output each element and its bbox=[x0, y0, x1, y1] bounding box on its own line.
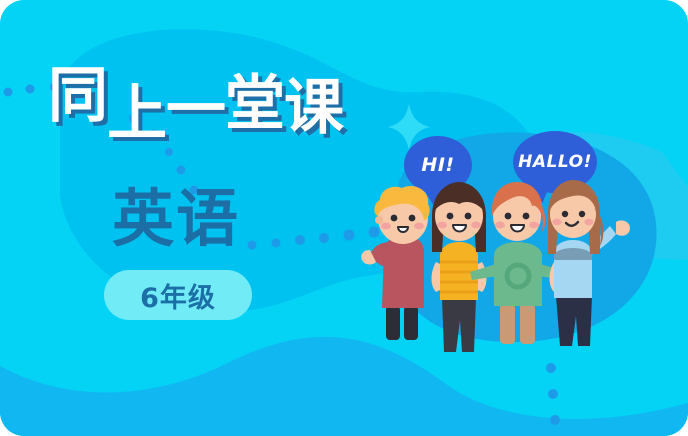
child-blond-boy bbox=[361, 186, 429, 340]
four-children-illustration bbox=[360, 180, 650, 360]
child-brown-hair-girl-waving bbox=[548, 180, 630, 346]
speech-bubble-hallo-text: HALLO! bbox=[518, 152, 592, 172]
speech-bubble-hi-text: HI! bbox=[421, 154, 454, 176]
child-brown-hair-girl bbox=[432, 182, 487, 352]
course-cover-card: HI! HALLO! bbox=[0, 0, 688, 436]
